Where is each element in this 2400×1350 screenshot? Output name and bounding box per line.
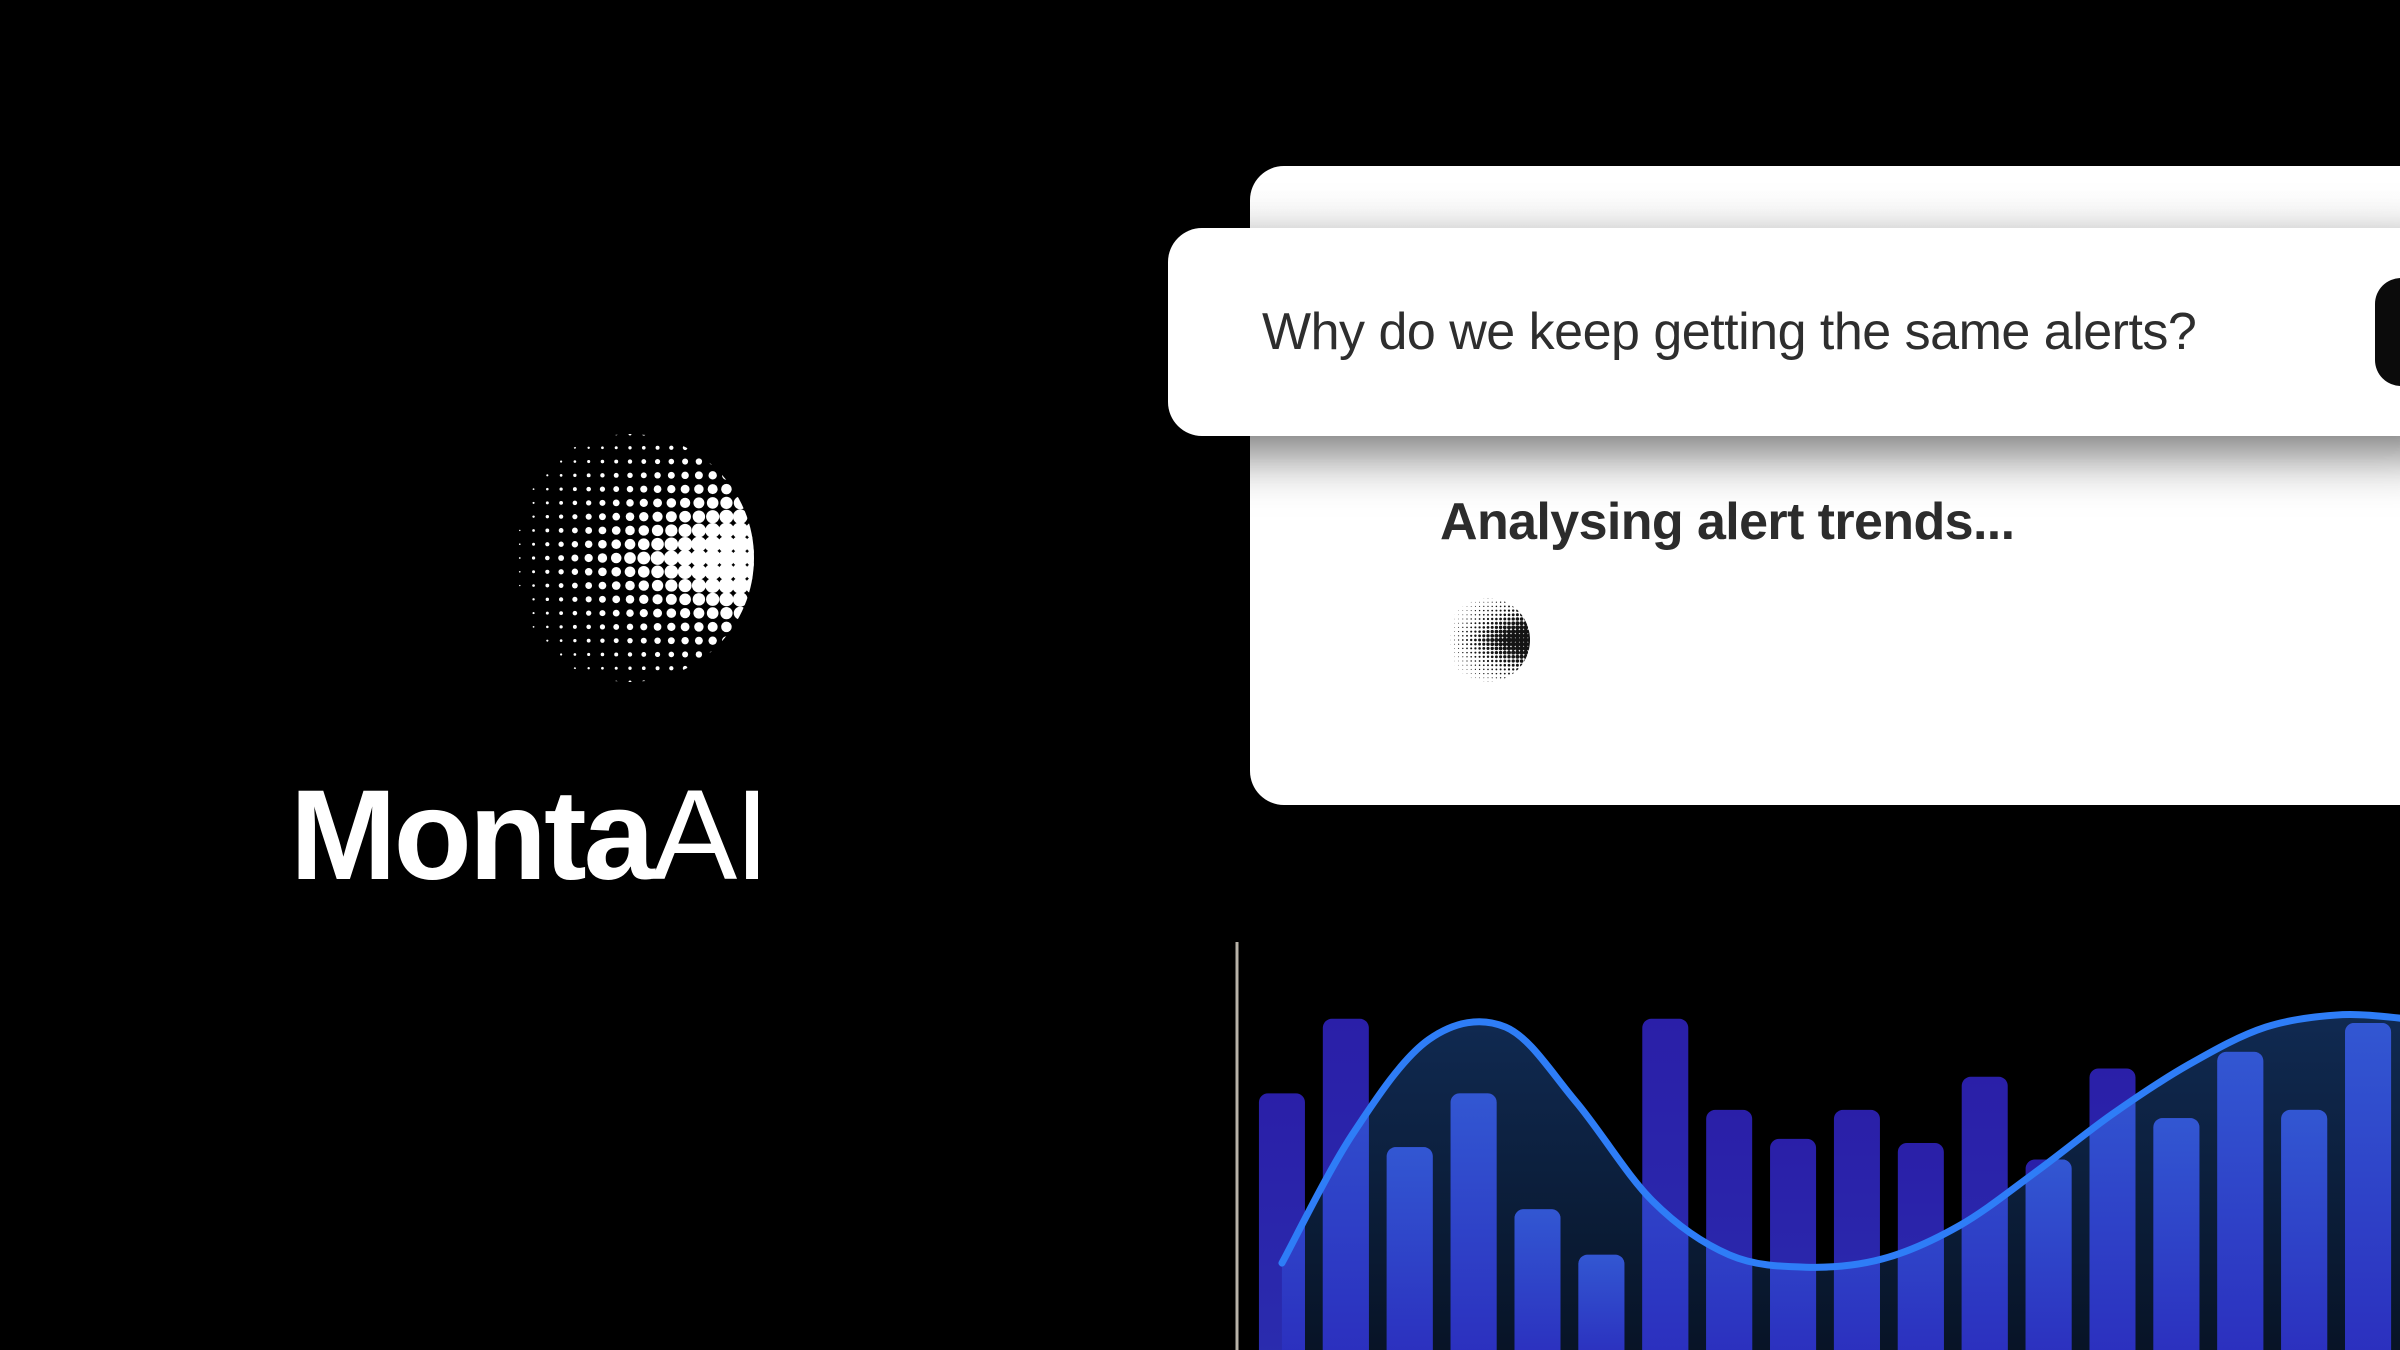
send-button[interactable] <box>2375 278 2400 386</box>
alert-trend-chart <box>1220 930 2400 1350</box>
chart-bar <box>1387 1147 1433 1350</box>
halftone-sphere-loading-icon <box>1440 592 1536 688</box>
prompt-input[interactable]: Why do we keep getting the same alerts? <box>1262 302 2196 362</box>
chat-panel: Analysing alert trends... Why do we keep… <box>1160 0 2400 830</box>
chart-bar <box>2026 1160 2072 1350</box>
chart-bar <box>2217 1052 2263 1350</box>
chart-bar <box>2281 1110 2327 1350</box>
chart-bar <box>2153 1118 2199 1350</box>
chart-bar <box>2345 1023 2391 1350</box>
chart-bar <box>1451 1093 1497 1350</box>
brand-panel: MontaAI <box>0 0 1160 1350</box>
brand-name-light: AI <box>652 764 767 907</box>
status-text: Analysing alert trends... <box>1440 492 2015 552</box>
brand-name-strong: Monta <box>290 764 652 907</box>
halftone-sphere-logo-icon <box>490 418 770 698</box>
page-title: MontaAI <box>290 772 1010 900</box>
promo-canvas: MontaAI Analysing alert trends... Why do… <box>0 0 2400 1350</box>
prompt-input-card[interactable]: Why do we keep getting the same alerts? <box>1168 228 2400 436</box>
chart-bar <box>1515 1209 1561 1350</box>
chart-bar <box>1578 1255 1624 1350</box>
